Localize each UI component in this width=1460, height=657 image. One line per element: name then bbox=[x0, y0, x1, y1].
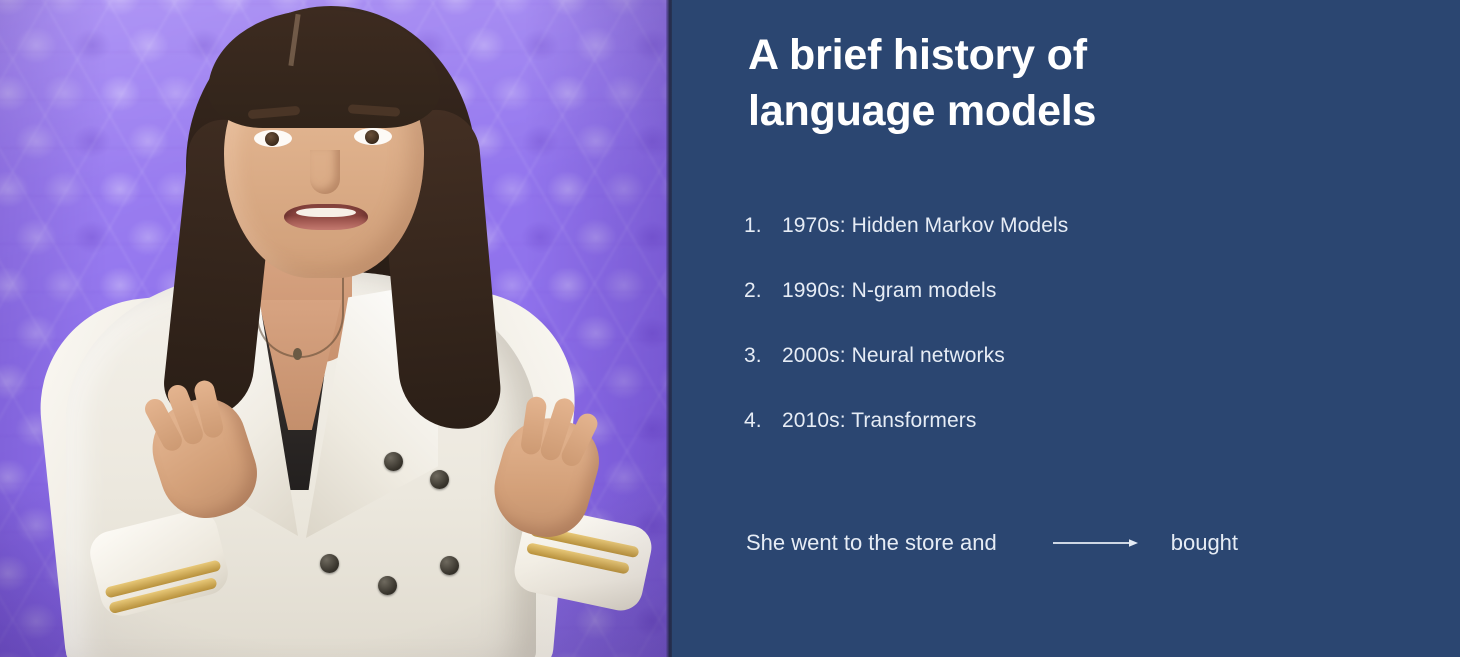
example-predicted-word: bought bbox=[1171, 530, 1238, 556]
nose bbox=[310, 150, 340, 194]
right-arrow-icon bbox=[1053, 536, 1139, 550]
history-list: 1. 1970s: Hidden Markov Models 2. 1990s:… bbox=[744, 214, 1404, 474]
list-item-label: 1970s: Hidden Markov Models bbox=[782, 214, 1068, 238]
list-item-label: 2000s: Neural networks bbox=[782, 344, 1005, 368]
presenter-figure bbox=[48, 0, 648, 657]
example-sentence-row: She went to the store and bought bbox=[746, 530, 1446, 556]
list-item-number: 1. bbox=[744, 214, 782, 238]
blazer-button bbox=[378, 576, 397, 595]
list-item-label: 2010s: Transformers bbox=[782, 409, 976, 433]
page-title: A brief history of language models bbox=[748, 28, 1388, 140]
blazer-button bbox=[384, 452, 403, 471]
example-sentence-prefix: She went to the store and bbox=[746, 530, 997, 556]
list-item: 3. 2000s: Neural networks bbox=[744, 344, 1404, 409]
blazer-button bbox=[430, 470, 449, 489]
blazer-button bbox=[320, 554, 339, 573]
list-item-number: 3. bbox=[744, 344, 782, 368]
presentation-slide[interactable]: A brief history of language models 1. 19… bbox=[672, 0, 1460, 657]
list-item-label: 1990s: N-gram models bbox=[782, 279, 996, 303]
presenter-video-pane[interactable] bbox=[0, 0, 672, 657]
list-item: 1. 1970s: Hidden Markov Models bbox=[744, 214, 1404, 279]
blazer-button bbox=[440, 556, 459, 575]
teeth bbox=[296, 208, 356, 217]
list-item-number: 2. bbox=[744, 279, 782, 303]
eye-left bbox=[254, 130, 292, 147]
necklace-pendant bbox=[293, 348, 302, 360]
slide-with-presenter-view: A brief history of language models 1. 19… bbox=[0, 0, 1460, 657]
list-item-number: 4. bbox=[744, 409, 782, 433]
eye-right bbox=[354, 128, 392, 145]
list-item: 2. 1990s: N-gram models bbox=[744, 279, 1404, 344]
list-item: 4. 2010s: Transformers bbox=[744, 409, 1404, 474]
